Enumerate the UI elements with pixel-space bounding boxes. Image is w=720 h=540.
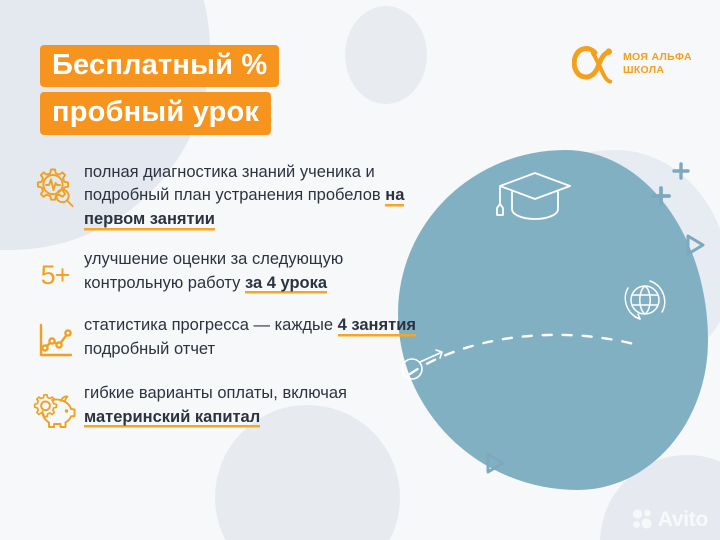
avito-logo-icon (632, 508, 654, 530)
feature-text-bold: 4 занятия (338, 316, 416, 337)
feature-text: улучшение оценки за следующую контрольну… (84, 247, 426, 295)
feature-item: гибкие варианты оплаты, включая материнс… (26, 381, 426, 433)
grade-5plus-icon: 5+ (26, 247, 84, 299)
feature-text-bold: за 4 урока (245, 274, 327, 295)
feature-text-plain: гибкие варианты оплаты, включая (84, 384, 347, 402)
headline-row-2: пробный урок (40, 92, 279, 134)
feature-item: статистика прогресса — каждые 4 занятия … (26, 313, 426, 365)
feature-text: полная диагностика знаний ученика и подр… (84, 160, 426, 231)
piggy-bank-gear-icon (26, 381, 84, 433)
gear-pulse-magnifier-icon (26, 160, 84, 212)
logo-text: МОЯ АЛЬФА ШКОЛА (623, 51, 692, 77)
dashed-path (402, 310, 702, 440)
feature-item: 5+ улучшение оценки за следующую контрол… (26, 247, 426, 299)
headline: Бесплатный % пробный урок (40, 45, 279, 135)
headline-row-1: Бесплатный % (40, 45, 279, 87)
feature-list: полная диагностика знаний ученика и подр… (26, 160, 426, 433)
avito-watermark-label: Avito (658, 509, 708, 530)
triangle-outline-icon (682, 232, 708, 263)
feature-text-plain: статистика прогресса — каждые (84, 316, 338, 334)
alpha-symbol-icon (572, 44, 616, 84)
grade-5plus-label: 5+ (41, 262, 70, 289)
brand-logo[interactable]: МОЯ АЛЬФА ШКОЛА (572, 44, 692, 84)
feature-text-bold: материнский капитал (84, 408, 260, 429)
logo-line-2: ШКОЛА (623, 64, 692, 77)
plus-sign-icon (648, 183, 674, 214)
avito-watermark: Avito (632, 508, 708, 530)
feature-text-plain-2: подробный отчет (84, 340, 215, 358)
headline-chip-2: пробный урок (40, 92, 271, 134)
feature-text-plain: полная диагностика знаний ученика и подр… (84, 163, 385, 204)
promo-poster: Бесплатный % пробный урок МОЯ АЛЬФА ШКОЛ… (0, 0, 720, 540)
feature-item: полная диагностика знаний ученика и подр… (26, 160, 426, 231)
feature-text: статистика прогресса — каждые 4 занятия … (84, 313, 426, 361)
line-chart-icon (26, 313, 84, 365)
headline-chip-1: Бесплатный % (40, 45, 279, 87)
feature-text: гибкие варианты оплаты, включая материнс… (84, 381, 426, 429)
triangle-outline-icon (482, 450, 508, 481)
graduation-cap-icon (490, 168, 576, 230)
logo-line-1: МОЯ АЛЬФА (623, 51, 692, 64)
bg-ellipse-top-center (345, 6, 427, 104)
